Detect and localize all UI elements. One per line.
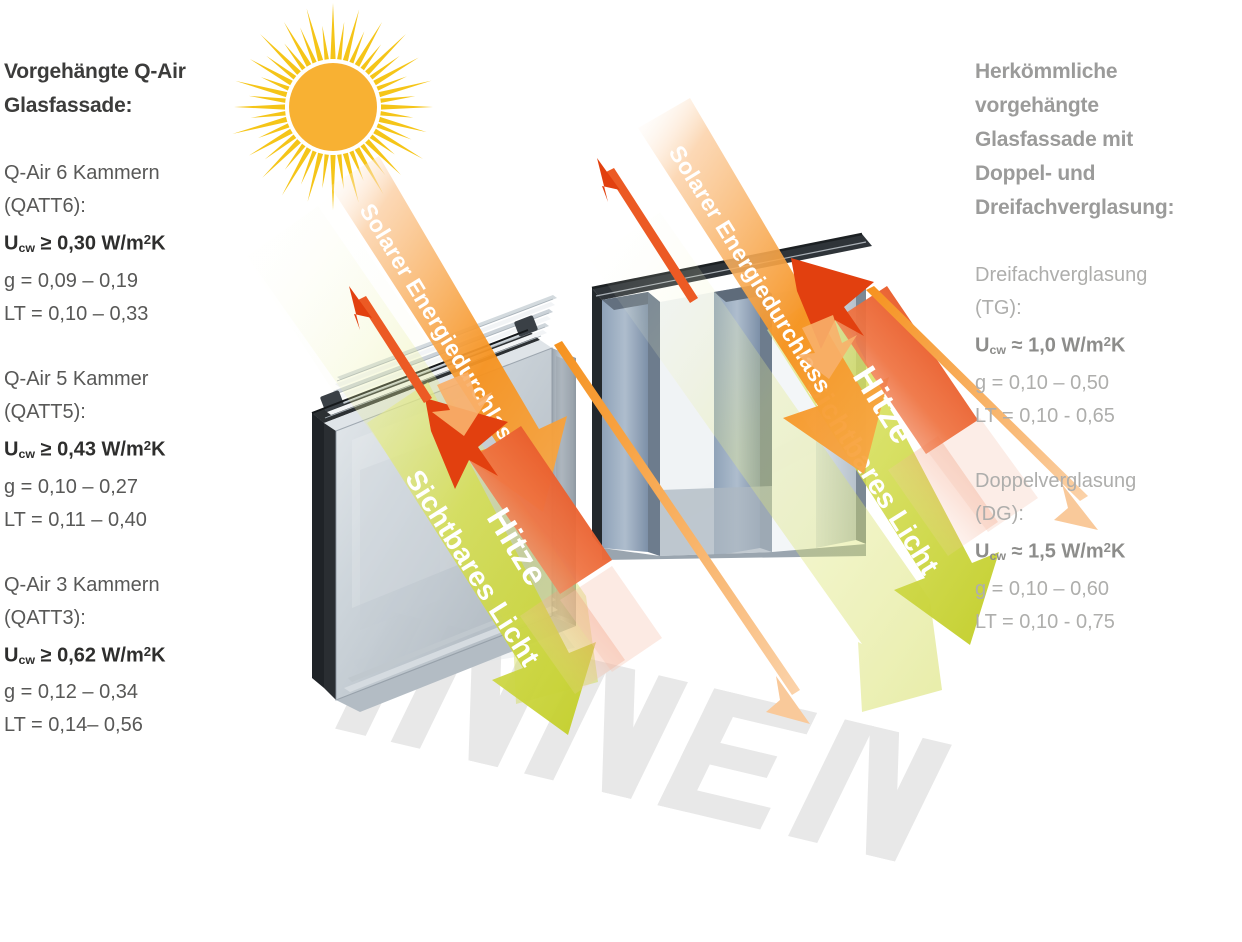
u-number: ≥ 0,62 W/m bbox=[35, 644, 144, 666]
arrow-label-solar-right: Solarer Energiedurchlass bbox=[664, 141, 837, 398]
spec-block-qatt6: Q-Air 6 Kammern (QATT6): Ucw ≥ 0,30 W/m2… bbox=[4, 157, 269, 331]
arrow-sichtbares-licht-right: Sichtbares Licht bbox=[590, 212, 999, 712]
u-unit-tail: K bbox=[1111, 540, 1125, 562]
spec-lt-tg: LT = 0,10 - 0,65 bbox=[975, 400, 1240, 433]
spec-uvalue-dg: Ucw ≈ 1,5 W/m2K bbox=[975, 531, 1240, 573]
spec-lt-dg: LT = 0,10 - 0,75 bbox=[975, 606, 1240, 639]
spec-uvalue-qatt3: Ucw ≥ 0,62 W/m2K bbox=[4, 635, 269, 677]
left-column-heading: Vorgehängte Q-Air Glasfassade: bbox=[4, 55, 269, 123]
spec-lt-qatt3: LT = 0,14– 0,56 bbox=[4, 709, 269, 742]
light-wash-left bbox=[246, 196, 560, 600]
spec-name-tg: Dreifachverglasung (TG): bbox=[975, 259, 1240, 325]
spec-name-qatt5: Q-Air 5 Kammer (QATT5): bbox=[4, 363, 269, 429]
u-symbol: U bbox=[4, 644, 18, 666]
arrow-label-sichtbares-licht-left: Sichtbares Licht bbox=[399, 464, 546, 671]
arrow-label-hitze-right: Hitze bbox=[845, 360, 922, 451]
u-symbol: U bbox=[4, 233, 18, 255]
right-column-heading: Herkömmliche vorgehängte Glasfassade mit… bbox=[975, 55, 1240, 225]
u-unit-tail: K bbox=[151, 233, 165, 255]
spec-uvalue-tg: Ucw ≈ 1,0 W/m2K bbox=[975, 325, 1240, 367]
u-symbol: U bbox=[975, 540, 989, 562]
arrow-heat-escape-right bbox=[597, 158, 698, 303]
spec-name-dg: Doppelverglasung (DG): bbox=[975, 465, 1240, 531]
spec-lt-qatt5: LT = 0,11 – 0,40 bbox=[4, 504, 269, 537]
spec-uvalue-qatt6: Ucw ≥ 0,30 W/m2K bbox=[4, 223, 269, 265]
right-spec-column: Herkömmliche vorgehängte Glasfassade mit… bbox=[975, 55, 1240, 639]
arrow-solar-transmitted-left bbox=[432, 372, 492, 436]
u-subscript: cw bbox=[989, 343, 1006, 357]
qair-panel-unit bbox=[312, 295, 576, 712]
arrow-solarer-energiedurchlass-right: Solarer Energiedurchlass bbox=[638, 98, 889, 474]
u-subscript: cw bbox=[18, 447, 35, 461]
spec-g-qatt5: g = 0,10 – 0,27 bbox=[4, 471, 269, 504]
arrow-heat-escape-left bbox=[349, 286, 432, 403]
arrow-sichtbares-licht-left: Sichtbares Licht bbox=[247, 206, 598, 735]
watermark-innen bbox=[335, 612, 952, 861]
arrow-label-sichtbares-licht-right: Sichtbares Licht bbox=[799, 372, 945, 580]
u-subscript: cw bbox=[18, 241, 35, 255]
spec-block-qatt3: Q-Air 3 Kammern (QATT3): Ucw ≥ 0,62 W/m2… bbox=[4, 569, 269, 743]
u-symbol: U bbox=[4, 438, 18, 460]
conventional-facade-unit bbox=[592, 234, 880, 560]
u-unit-tail: K bbox=[151, 438, 165, 460]
u-unit-tail: K bbox=[1111, 335, 1125, 357]
u-subscript: cw bbox=[18, 652, 35, 666]
spec-g-tg: g = 0,10 – 0,50 bbox=[975, 367, 1240, 400]
arrow-label-hitze-left: Hitze bbox=[479, 502, 555, 593]
spec-name-qatt3: Q-Air 3 Kammern (QATT3): bbox=[4, 569, 269, 635]
spec-block-dg: Doppelverglasung (DG): Ucw ≈ 1,5 W/m2K g… bbox=[975, 465, 1240, 639]
spec-lt-qatt6: LT = 0,10 – 0,33 bbox=[4, 298, 269, 331]
u-number: ≈ 1,5 W/m bbox=[1006, 540, 1104, 562]
u-superscript: 2 bbox=[1104, 540, 1111, 555]
u-superscript: 2 bbox=[1104, 334, 1111, 349]
spec-block-tg: Dreifachverglasung (TG): Ucw ≈ 1,0 W/m2K… bbox=[975, 259, 1240, 433]
u-number: ≥ 0,43 W/m bbox=[35, 438, 144, 460]
spec-name-qatt6: Q-Air 6 Kammern (QATT6): bbox=[4, 157, 269, 223]
infographic-canvas: Sichtbares Licht Solarer Energiedurchlas… bbox=[0, 0, 1242, 942]
u-unit-tail: K bbox=[151, 644, 165, 666]
spec-block-qatt5: Q-Air 5 Kammer (QATT5): Ucw ≥ 0,43 W/m2K… bbox=[4, 363, 269, 537]
arrow-solar-transmitted-right bbox=[797, 315, 857, 379]
spec-g-qatt3: g = 0,12 – 0,34 bbox=[4, 676, 269, 709]
ray-solar-transmitted-left bbox=[554, 341, 810, 724]
u-number: ≈ 1,0 W/m bbox=[1006, 335, 1104, 357]
u-symbol: U bbox=[975, 335, 989, 357]
u-number: ≥ 0,30 W/m bbox=[35, 233, 144, 255]
arrow-hitze-left: Hitze bbox=[425, 398, 662, 694]
spec-g-qatt6: g = 0,09 – 0,19 bbox=[4, 265, 269, 298]
spec-uvalue-qatt5: Ucw ≥ 0,43 W/m2K bbox=[4, 429, 269, 471]
left-spec-column: Vorgehängte Q-Air Glasfassade: Q-Air 6 K… bbox=[4, 55, 269, 742]
spec-g-dg: g = 0,10 – 0,60 bbox=[975, 573, 1240, 606]
u-subscript: cw bbox=[989, 549, 1006, 563]
